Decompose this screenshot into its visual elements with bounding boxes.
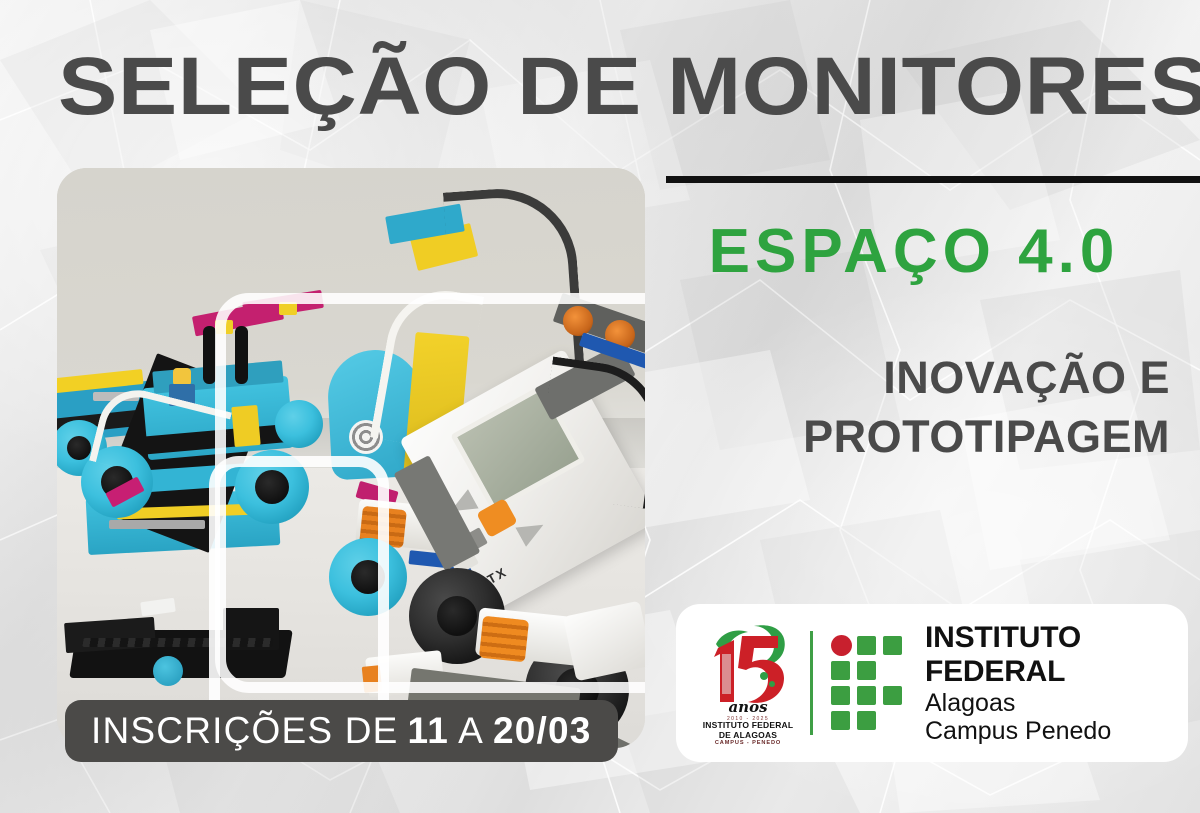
buggy-base-plate-front bbox=[64, 617, 156, 653]
robotics-photo: TX bbox=[57, 168, 645, 748]
registration-banner: INSCRIÇÕES DE 11 A 20/03 bbox=[65, 700, 618, 762]
registration-prefix: INSCRIÇÕES DE bbox=[91, 710, 399, 752]
logo-divider bbox=[810, 631, 813, 735]
subtitle-line-2: PROTOTIPAGEM bbox=[660, 407, 1170, 466]
if-logo-cell-r3c2 bbox=[857, 686, 876, 705]
institution-state: Alagoas bbox=[925, 689, 1188, 717]
anniversary-caption-line-1: INSTITUTO FEDERAL bbox=[692, 720, 804, 730]
anniversary-emblem: anos 2010 - 2025 INSTITUTO FEDERAL DE AL… bbox=[692, 620, 804, 746]
headline-divider-rule bbox=[666, 176, 1200, 183]
if-logo-mark bbox=[831, 635, 903, 731]
subtitle-line-1: INOVAÇÃO E bbox=[660, 348, 1170, 407]
poster-canvas: SELEÇÃO DE MONITORES bbox=[0, 0, 1200, 813]
if-logo-cell-r1c3 bbox=[883, 636, 902, 655]
if-logo-cell-r2c1 bbox=[831, 661, 850, 680]
buggy-blue-knob bbox=[153, 656, 183, 686]
program-name: ESPAÇO 4.0 bbox=[664, 216, 1164, 287]
buggy-gray-axle bbox=[109, 520, 205, 529]
anniversary-caption-line-3: CAMPUS - PENEDO bbox=[692, 740, 804, 746]
if-logo-red-circle bbox=[831, 635, 852, 656]
anniversary-caption: INSTITUTO FEDERAL DE ALAGOAS CAMPUS - PE… bbox=[692, 720, 804, 746]
registration-connector: A bbox=[458, 710, 484, 752]
institution-text: INSTITUTO FEDERAL Alagoas Campus Penedo bbox=[925, 621, 1188, 744]
if-logo-cell-r2c2 bbox=[857, 661, 876, 680]
if-logo-cell-r1c2 bbox=[857, 636, 876, 655]
if-logo-cell-r3c1 bbox=[831, 686, 850, 705]
if-logo-cell-r4c1 bbox=[831, 711, 850, 730]
registration-start-day: 11 bbox=[408, 710, 450, 752]
program-subtitle: INOVAÇÃO E PROTOTIPAGEM bbox=[660, 348, 1170, 467]
if-logo-cell-r3c3 bbox=[883, 686, 902, 705]
institution-name: INSTITUTO FEDERAL bbox=[925, 621, 1188, 688]
page-title: SELEÇÃO DE MONITORES bbox=[58, 46, 1200, 128]
registration-end-date: 20/03 bbox=[493, 710, 592, 752]
robot-far-left-hub bbox=[67, 436, 91, 460]
institution-campus: Campus Penedo bbox=[925, 717, 1188, 745]
anniversary-word: anos bbox=[692, 698, 804, 716]
institution-logo-card: anos 2010 - 2025 INSTITUTO FEDERAL DE AL… bbox=[676, 604, 1188, 762]
anniversary-caption-line-2: DE ALAGOAS bbox=[692, 730, 804, 740]
if-logo-cell-r4c2 bbox=[857, 711, 876, 730]
